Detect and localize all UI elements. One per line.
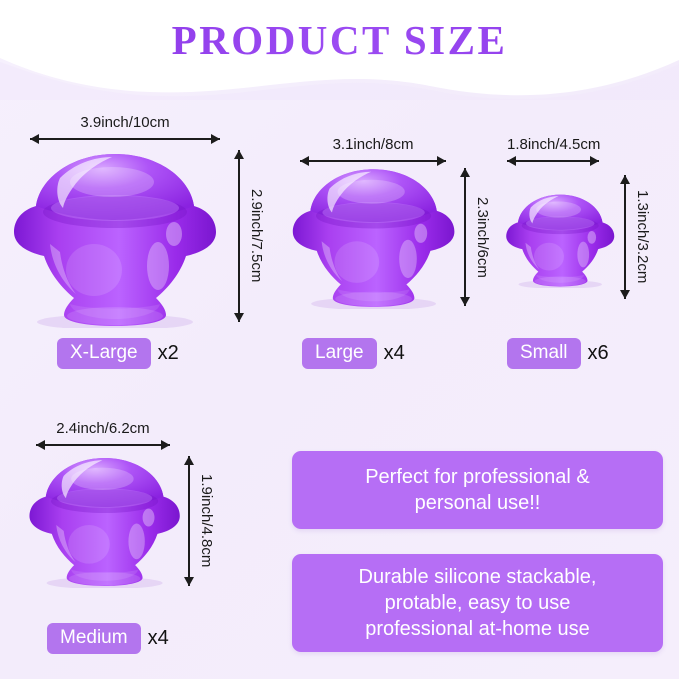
size-badge-xlarge[interactable]: X-Large xyxy=(57,338,151,369)
dimension-line xyxy=(36,444,170,446)
arrow-right-icon xyxy=(590,156,599,166)
dimension-line xyxy=(188,456,190,586)
arrow-left-icon xyxy=(36,440,45,450)
small-width-dimension: 1.8inch/4.5cm xyxy=(507,154,599,168)
product-medium: 2.4inch/6.2cm xyxy=(0,408,260,668)
small-width-label: 1.8inch/4.5cm xyxy=(507,136,599,153)
large-badge-row: Large x4 xyxy=(302,338,405,369)
callout-durable-silicone: Durable silicone stackable, protable, ea… xyxy=(292,554,663,652)
arrow-right-icon xyxy=(161,440,170,450)
dimension-line xyxy=(30,138,220,140)
quantity-medium: x4 xyxy=(148,627,169,650)
dimension-line xyxy=(300,160,446,162)
xlarge-width-dimension: 3.9inch/10cm xyxy=(30,132,220,146)
callout-1-line-1: Perfect for professional & xyxy=(365,464,590,490)
arrow-right-icon xyxy=(211,134,220,144)
medium-badge-row: Medium x4 xyxy=(47,623,169,654)
size-badge-medium[interactable]: Medium xyxy=(47,623,141,654)
arrow-up-icon xyxy=(234,150,244,159)
callout-2-line-3: professional at-home use xyxy=(365,616,590,642)
medium-height-dimension: 1.9inch/4.8cm xyxy=(182,456,196,586)
arrow-up-icon xyxy=(620,175,630,184)
xlarge-badge-row: X-Large x2 xyxy=(57,338,179,369)
dimension-line xyxy=(507,160,599,162)
large-width-label: 3.1inch/8cm xyxy=(300,136,446,153)
quantity-small: x6 xyxy=(588,342,609,365)
product-xlarge: 3.9inch/10cm xyxy=(0,100,265,385)
medium-width-dimension: 2.4inch/6.2cm xyxy=(36,438,170,452)
callout-professional-use: Perfect for professional & personal use!… xyxy=(292,451,663,529)
arrow-left-icon xyxy=(507,156,516,166)
arrow-left-icon xyxy=(30,134,39,144)
product-large: 3.1inch/8cm xyxy=(280,128,490,385)
quantity-xlarge: x2 xyxy=(158,342,179,365)
large-cup-image xyxy=(288,164,460,309)
xlarge-height-dimension: 2.9inch/7.5cm xyxy=(232,150,246,322)
arrow-up-icon xyxy=(184,456,194,465)
medium-cup-image xyxy=(25,453,185,588)
arrow-up-icon xyxy=(460,168,470,177)
quantity-large: x4 xyxy=(384,342,405,365)
xlarge-width-label: 3.9inch/10cm xyxy=(30,114,220,131)
product-small: 1.8inch/4.5cm xyxy=(495,128,679,385)
callout-2-line-1: Durable silicone stackable, xyxy=(359,564,597,590)
arrow-down-icon xyxy=(620,290,630,299)
arrow-down-icon xyxy=(460,297,470,306)
callout-2-line-2: protable, easy to use xyxy=(385,590,571,616)
large-height-dimension: 2.3inch/6cm xyxy=(458,168,472,306)
xlarge-cup-image xyxy=(8,148,223,328)
page-title: PRODUCT SIZE xyxy=(0,16,679,64)
header-banner: PRODUCT SIZE xyxy=(0,0,679,100)
size-badge-large[interactable]: Large xyxy=(302,338,377,369)
dimension-line xyxy=(624,175,626,299)
medium-height-label: 1.9inch/4.8cm xyxy=(198,456,215,586)
small-cup-image xyxy=(503,191,618,288)
dimension-line xyxy=(464,168,466,306)
arrow-down-icon xyxy=(234,313,244,322)
large-height-label: 2.3inch/6cm xyxy=(474,168,491,306)
xlarge-height-label: 2.9inch/7.5cm xyxy=(248,150,265,322)
medium-width-label: 2.4inch/6.2cm xyxy=(36,420,170,437)
dimension-line xyxy=(238,150,240,322)
small-height-label: 1.3inch/3.2cm xyxy=(634,175,651,299)
small-height-dimension: 1.3inch/3.2cm xyxy=(618,175,632,299)
arrow-down-icon xyxy=(184,577,194,586)
size-badge-small[interactable]: Small xyxy=(507,338,581,369)
callout-1-line-2: personal use!! xyxy=(415,490,541,516)
small-badge-row: Small x6 xyxy=(507,338,609,369)
